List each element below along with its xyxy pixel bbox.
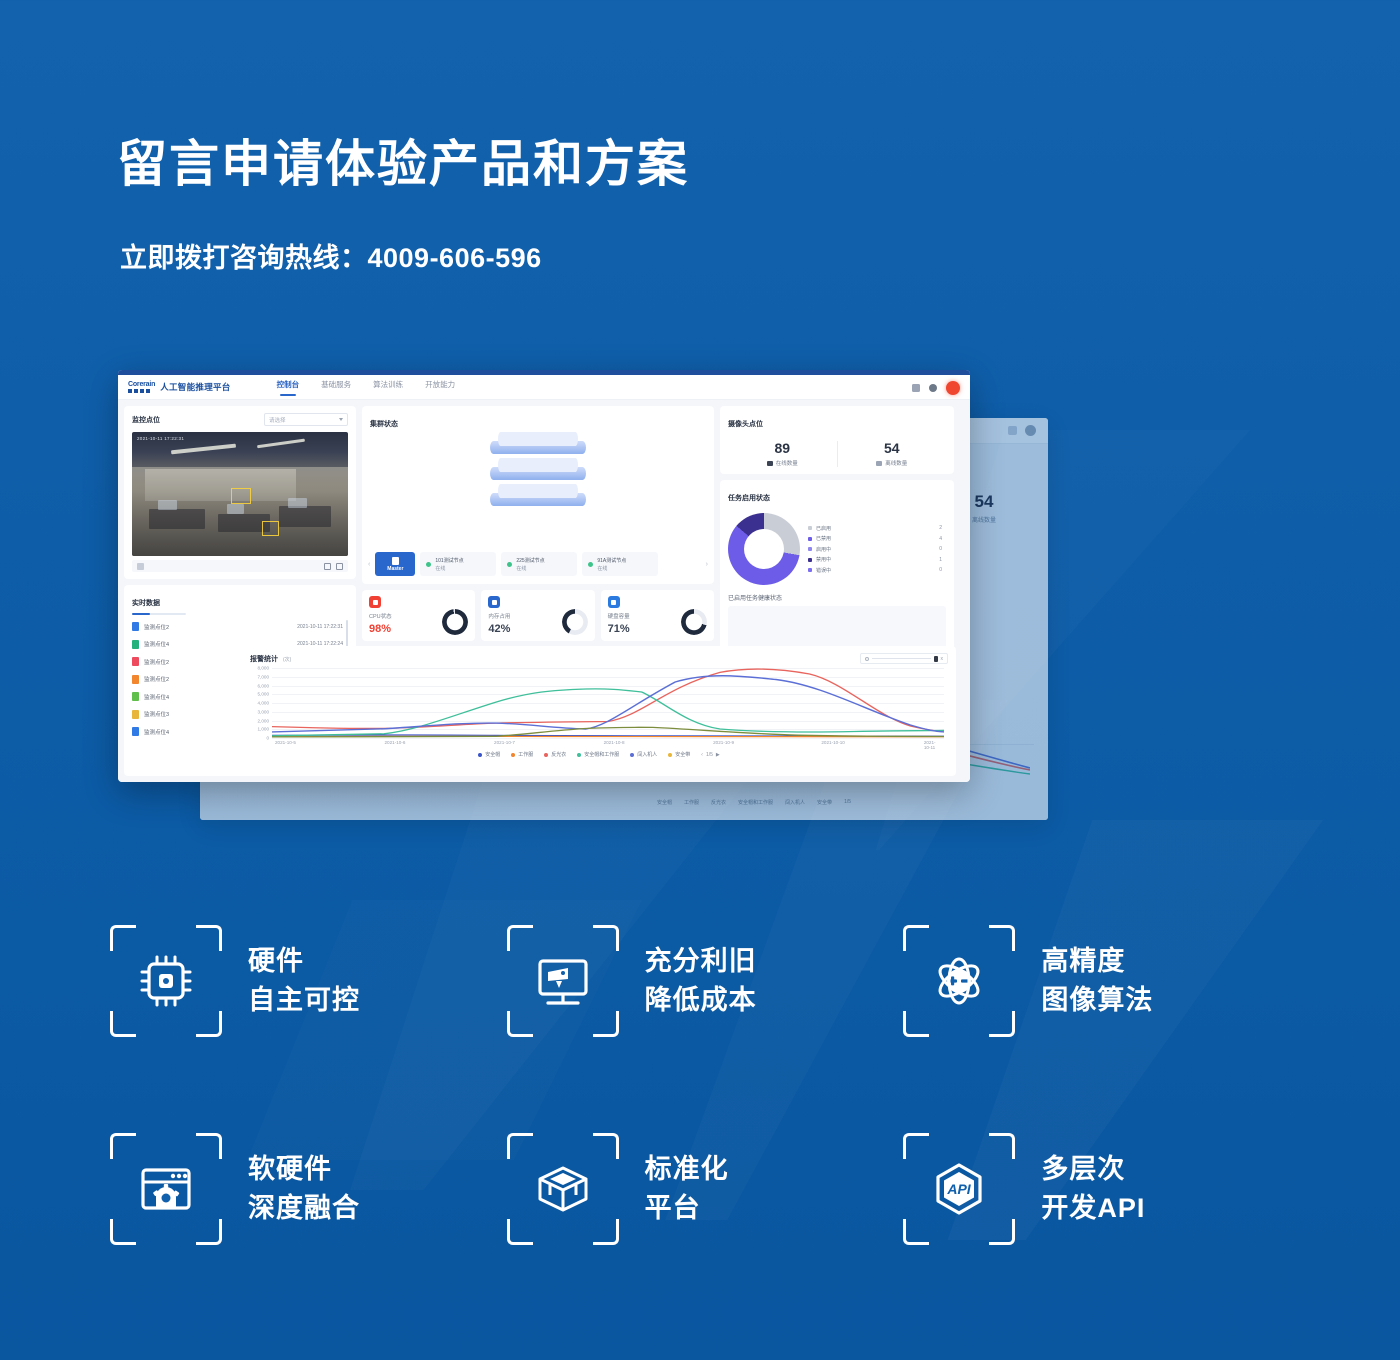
legend-label: 反光衣 <box>551 751 566 758</box>
alert-icon <box>132 640 139 649</box>
status-dot-icon <box>588 562 593 567</box>
legend-label: 已启用 <box>816 525 831 532</box>
node-master-label: Master <box>387 566 403 572</box>
legend-item[interactable]: 反光衣 <box>544 751 566 758</box>
feature-line2: 图像算法 <box>1041 981 1153 1020</box>
progress-ring <box>681 609 707 635</box>
camera-icon <box>767 461 773 466</box>
x-tick: 2021-10-5 <box>275 740 296 745</box>
video-timestamp: 2021-10-11 17:22:31 <box>137 436 184 441</box>
camera-panel-title: 摄像头点位 <box>728 421 763 428</box>
metric-value: 98% <box>369 623 392 635</box>
video-feed[interactable]: 2021-10-11 17:22:31 <box>132 432 348 556</box>
node-master[interactable]: Master <box>375 552 415 576</box>
alert-icon <box>132 622 139 631</box>
range-label: x <box>941 656 944 662</box>
y-tick: 8,000 <box>258 666 270 671</box>
features-grid: 硬件 自主可控 充分利旧 降低成本 <box>110 925 1300 1245</box>
feature-label: 硬件 自主可控 <box>248 942 360 1020</box>
feature-label: 充分利旧 降低成本 <box>645 942 757 1020</box>
video-toolbar <box>132 560 348 572</box>
tab-algorithm-training[interactable]: 算法训练 <box>373 379 403 396</box>
stat-value: 54 <box>838 440 947 456</box>
tab-basic-services[interactable]: 基础服务 <box>321 379 351 396</box>
chart-plot: 8,000 7,000 6,000 5,000 4,000 3,000 2,00… <box>250 668 948 750</box>
legend-value: 2 <box>939 525 946 531</box>
y-tick: 3,000 <box>258 709 270 714</box>
feature-line1: 多层次 <box>1041 1150 1145 1189</box>
x-tick: 2021-10-8 <box>604 740 625 745</box>
legend-item: 错误中 0 <box>808 567 946 574</box>
chart-subtitle: (次) <box>283 656 291 663</box>
chart-series-lines <box>272 668 944 738</box>
tab-open-capability[interactable]: 开放能力 <box>425 379 455 396</box>
stat-online: 89 在线数量 <box>728 440 837 467</box>
feature-line2: 深度融合 <box>248 1189 360 1228</box>
close-icon[interactable] <box>946 381 960 395</box>
legend-value: 4 <box>939 536 946 542</box>
feature-label: 多层次 开发API <box>1041 1150 1145 1228</box>
slider-handle-right-icon[interactable] <box>934 656 938 662</box>
task-donut-wrap: 已启用 2 已禁用 4 启用中 0 <box>728 513 946 585</box>
y-tick: 5,000 <box>258 692 270 697</box>
minimize-icon <box>1008 426 1017 435</box>
chart-legend: 安全帽 工作服 反光衣 安全帽和工作服 闯入机人 安全带 ‹ 1/5 ▶ <box>250 751 948 758</box>
camera-stats: 89 在线数量 54 离线数量 <box>728 440 946 467</box>
monitor-point-select[interactable]: 请选择 <box>264 413 348 426</box>
close-icon <box>1025 425 1036 436</box>
cpu-icon <box>369 596 381 608</box>
metric-value: 71% <box>608 623 630 635</box>
y-tick: 0 <box>266 736 269 741</box>
api-hexagon-icon: API <box>928 1158 990 1220</box>
node-status: 在线 <box>516 565 544 572</box>
stat-label: 在线数量 <box>776 459 798 467</box>
feature-line2: 自主可控 <box>248 981 360 1020</box>
metric-label: CPU状态 <box>369 612 392 620</box>
feature-icon-frame <box>507 925 619 1037</box>
legend-label: 禁用中 <box>816 556 831 563</box>
legend-item: 已禁用 4 <box>808 535 946 542</box>
minimize-icon[interactable] <box>912 384 920 392</box>
x-tick: 2021-10-10 <box>821 740 845 745</box>
cpu-chip-icon <box>135 950 197 1012</box>
feature-line2: 平台 <box>645 1189 729 1228</box>
node-item[interactable]: 91A测试节点 在线 <box>582 552 658 576</box>
alarm-chart-panel: 报警统计 (次) x 8,000 7,000 6,000 5,000 4,000 <box>242 646 956 776</box>
feature-line2: 开发API <box>1041 1189 1145 1228</box>
node-item[interactable]: 101测试节点 在线 <box>420 552 496 576</box>
legend-label: 错误中 <box>816 567 831 574</box>
alert-icon <box>132 692 139 701</box>
slider-handle-left-icon[interactable] <box>865 657 869 661</box>
monitor-panel-header: 监控点位 请选择 <box>132 413 348 426</box>
feature-line2: 降低成本 <box>645 981 757 1020</box>
background-stat: 54 离线数量 <box>972 492 996 524</box>
list-item-time: 2021-10-11 17:22:31 <box>297 624 348 630</box>
y-tick: 6,000 <box>258 683 270 688</box>
node-carousel: ‹ Master 101测试节点 在线 <box>368 552 708 576</box>
status-dot-icon <box>426 562 431 567</box>
node-item[interactable]: 225测试节点 在线 <box>501 552 577 576</box>
brand-name: 人工智能推理平台 <box>160 381 230 393</box>
feature-icon-frame <box>110 925 222 1037</box>
cluster-panel: 集群状态 ‹ Master <box>362 406 714 584</box>
feature-line1: 硬件 <box>248 942 360 981</box>
brand-logo-icon: Corerain <box>128 381 155 393</box>
status-dot-icon <box>507 562 512 567</box>
feature-icon-frame <box>903 925 1015 1037</box>
legend-value: 1 <box>939 557 946 563</box>
node-name: 225测试节点 <box>516 557 544 564</box>
nav-tabs: 控制台 基础服务 算法训练 开放能力 <box>277 379 456 396</box>
feature-multilayer-api: API 多层次 开发API <box>903 1133 1300 1245</box>
background-chart-legend: 安全帽 工作服 反光衣 安全帽和工作服 闯入机人 安全带 1/5 <box>470 799 1038 806</box>
feature-software-hardware-fusion: 软硬件 深度融合 <box>110 1133 507 1245</box>
legend-value: 0 <box>939 567 946 573</box>
y-tick: 1,000 <box>258 727 270 732</box>
dashboard-navbar: Corerain 人工智能推理平台 控制台 基础服务 算法训练 开放能力 <box>118 375 970 400</box>
detection-box <box>262 521 279 536</box>
monitor-panel: 监控点位 请选择 2021-10-11 17:22:31 <box>124 406 356 579</box>
legend-value: 0 <box>939 546 946 552</box>
list-item-label: 监测点位4 <box>144 640 169 648</box>
grid-icon[interactable] <box>137 563 144 570</box>
task-legend: 已启用 2 已禁用 4 启用中 0 <box>808 525 946 574</box>
node-name: 91A测试节点 <box>597 557 626 564</box>
cube-box-icon <box>532 1158 594 1220</box>
chart-title: 报警统计 <box>250 654 278 664</box>
realtime-panel-title: 实时数据 <box>132 600 160 607</box>
legend-item[interactable]: 安全帽 <box>478 751 500 758</box>
expand-icon[interactable] <box>336 563 343 570</box>
task-donut-chart <box>728 513 800 585</box>
atom-icon <box>928 950 990 1012</box>
feature-precision-algorithm: 高精度 图像算法 <box>903 925 1300 1037</box>
chevron-right-icon[interactable]: ▶ <box>716 752 720 758</box>
metric-memory: 内存占用 42% <box>481 590 594 641</box>
progress-ring <box>442 609 468 635</box>
chart-gridlines <box>272 668 944 738</box>
monitor-panel-title: 监控点位 <box>132 415 160 425</box>
background-stat-label: 离线数量 <box>972 515 996 524</box>
chart-pager: ‹ 1/5 ▶ <box>701 752 719 758</box>
feature-reuse-cost: 充分利旧 降低成本 <box>507 925 904 1037</box>
list-item-label: 监测点位2 <box>144 675 169 683</box>
detection-box <box>231 488 250 504</box>
stat-offline: 54 离线数量 <box>838 440 947 467</box>
disk-icon <box>608 596 620 608</box>
realtime-panel-header: 实时数据 <box>132 592 348 615</box>
y-tick: 2,000 <box>258 718 270 723</box>
feature-standard-platform: 标准化 平台 <box>507 1133 904 1245</box>
metrics-row: CPU状态 98% 内存占用 42% <box>362 590 714 641</box>
y-axis: 8,000 7,000 6,000 5,000 4,000 3,000 2,00… <box>250 668 272 738</box>
alert-icon <box>132 727 139 736</box>
legend-label: 已禁用 <box>816 535 831 542</box>
legend-label: 工作服 <box>518 751 533 758</box>
list-item-label: 监测点位2 <box>144 658 169 666</box>
list-item[interactable]: 监测点位2 2021-10-11 17:22:31 <box>132 618 348 636</box>
background-window-controls <box>1008 425 1036 436</box>
feature-icon-frame: API <box>903 1133 1015 1245</box>
legend-label: 安全帽 <box>485 751 500 758</box>
list-item-label: 监测点位3 <box>144 710 169 718</box>
y-tick: 7,000 <box>258 674 270 679</box>
metric-value: 42% <box>488 623 510 635</box>
camera-off-icon <box>876 461 882 466</box>
alert-icon <box>132 675 139 684</box>
x-tick: 2021-10-7 <box>494 740 515 745</box>
monitor-camera-icon <box>532 950 594 1012</box>
maximize-icon[interactable] <box>929 384 937 392</box>
legend-label: 安全帽和工作服 <box>584 751 619 758</box>
node-status: 在线 <box>435 565 463 572</box>
memory-icon <box>488 596 500 608</box>
task-panel-title: 任务启用状态 <box>728 495 770 502</box>
feature-line1: 充分利旧 <box>645 942 757 981</box>
node-name: 101测试节点 <box>435 557 463 564</box>
list-item-label: 监测点位4 <box>144 728 169 736</box>
pager-label: 1/5 <box>706 752 713 758</box>
chart-range-slider[interactable]: x <box>860 653 948 664</box>
cluster-panel-title: 集群状态 <box>370 421 398 428</box>
feature-label: 高精度 图像算法 <box>1041 942 1153 1020</box>
brand-logo-text: Corerain <box>128 381 155 388</box>
window-controls <box>912 381 960 395</box>
x-tick: 2021-10-11 <box>924 740 937 750</box>
browser-gear-icon <box>135 1158 197 1220</box>
progress-ring <box>562 609 588 635</box>
legend-item: 已启用 2 <box>808 525 946 532</box>
feature-label: 软硬件 深度融合 <box>248 1150 360 1228</box>
legend-label: 安全带 <box>675 751 690 758</box>
legend-label: 闯入机人 <box>637 751 657 758</box>
y-tick: 4,000 <box>258 701 270 706</box>
stat-label: 离线数量 <box>885 459 907 467</box>
svg-text:API: API <box>947 1181 972 1197</box>
node-status: 在线 <box>597 565 626 572</box>
feature-line1: 软硬件 <box>248 1150 360 1189</box>
server-stack-icon <box>490 432 586 516</box>
feature-line1: 高精度 <box>1041 942 1153 981</box>
feature-icon-frame <box>507 1133 619 1245</box>
brand: Corerain 人工智能推理平台 <box>128 381 231 393</box>
camera-panel: 摄像头点位 89 在线数量 54 离线数量 <box>720 406 954 474</box>
feature-label: 标准化 平台 <box>645 1150 729 1228</box>
background-stat-value: 54 <box>972 492 996 512</box>
legend-item[interactable]: 安全带 <box>668 751 690 758</box>
server-icon <box>392 557 399 565</box>
chevron-down-icon <box>339 418 343 421</box>
legend-label: 启用中 <box>816 546 831 553</box>
legend-item[interactable]: 工作服 <box>511 751 533 758</box>
list-item-label: 监测点位4 <box>144 693 169 701</box>
dashboard-window: Corerain 人工智能推理平台 控制台 基础服务 算法训练 开放能力 <box>118 370 970 782</box>
metric-label: 内存占用 <box>488 612 510 620</box>
legend-item[interactable]: 闯入机人 <box>630 751 657 758</box>
legend-item: 禁用中 1 <box>808 556 946 563</box>
metric-disk: 硬盘容量 71% <box>601 590 714 641</box>
fullscreen-icon[interactable] <box>324 563 331 570</box>
stat-value: 89 <box>728 440 837 456</box>
list-item-label: 监测点位2 <box>144 623 169 631</box>
legend-item: 启用中 0 <box>808 546 946 553</box>
chevron-right-icon[interactable]: › <box>706 561 708 568</box>
monitor-point-select-value: 请选择 <box>269 416 286 424</box>
metric-cpu: CPU状态 98% <box>362 590 475 641</box>
tab-console[interactable]: 控制台 <box>277 379 300 396</box>
x-axis: 2021-10-5 2021-10-6 2021-10-7 2021-10-8 … <box>272 738 944 750</box>
chevron-left-icon[interactable]: ‹ <box>368 561 370 568</box>
feature-line1: 标准化 <box>645 1150 729 1189</box>
chevron-left-icon[interactable]: ‹ <box>701 752 703 758</box>
alert-icon <box>132 657 139 666</box>
metric-label: 硬盘容量 <box>608 612 630 620</box>
x-tick: 2021-10-6 <box>384 740 405 745</box>
feature-hardware-autonomy: 硬件 自主可控 <box>110 925 507 1037</box>
feature-icon-frame <box>110 1133 222 1245</box>
x-tick: 2021-10-9 <box>713 740 734 745</box>
alert-icon <box>132 710 139 719</box>
chart-header: 报警统计 (次) x <box>250 653 948 664</box>
health-panel-title: 已启用任务健康状态 <box>728 593 946 602</box>
legend-item[interactable]: 安全帽和工作服 <box>577 751 619 758</box>
